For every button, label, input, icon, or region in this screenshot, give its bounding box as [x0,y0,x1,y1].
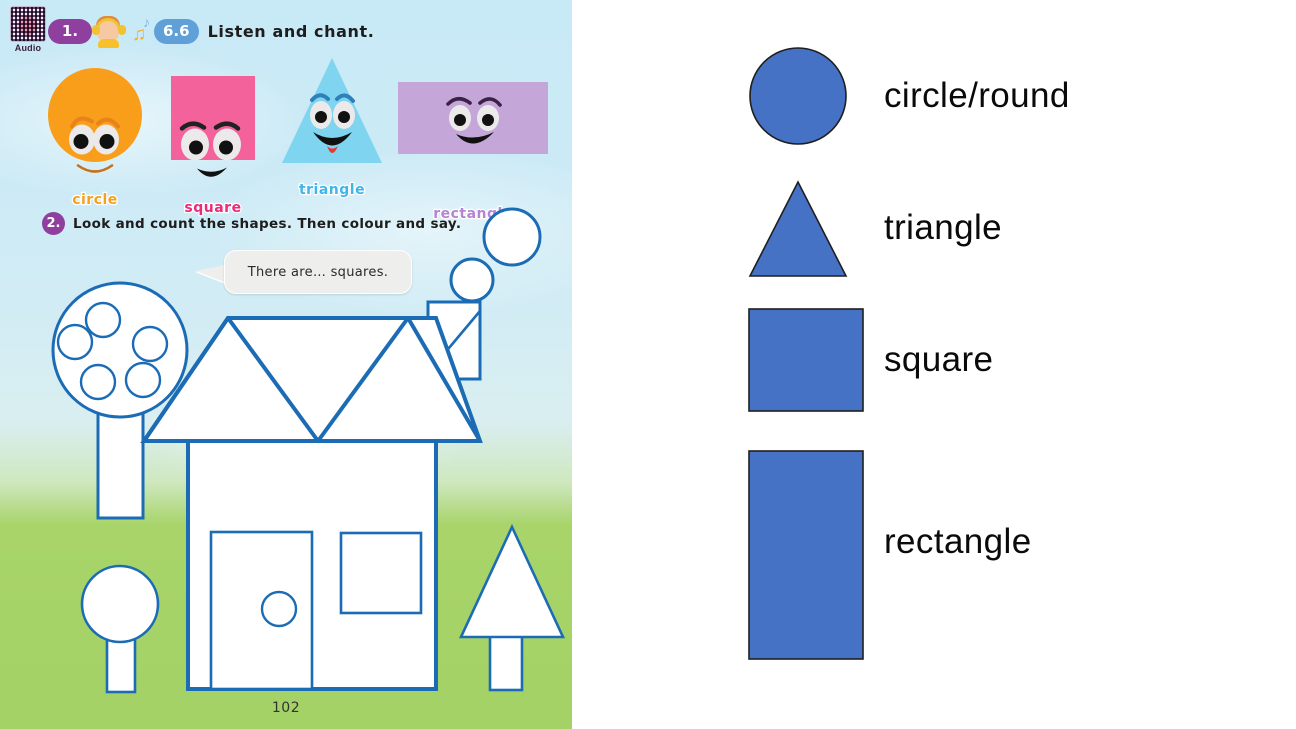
shape-character-circle: circle [48,68,142,213]
tree-trunk-small [107,629,135,692]
audio-label: Audio [8,42,48,54]
chimney [428,302,480,379]
door [211,532,312,689]
triangle-swatch-icon[interactable] [748,180,848,280]
smoke-circle-small [451,259,493,301]
roof-outline [144,318,480,441]
tree-circle-5 [126,363,160,397]
music-note-icon: ♫ ♪ [130,14,160,48]
qr-code-icon[interactable] [10,6,46,42]
tree-trunk-big [98,400,143,518]
exercise-1-instruction: Listen and chant. [208,22,375,41]
window [341,533,421,613]
shape-legend-panel: circle/round triangle square rectangle [572,0,1296,729]
legend-label-triangle: triangle [884,208,1002,248]
door-handle [262,592,296,626]
exercise-2-instruction: Look and count the shapes. Then colour a… [73,216,461,232]
exercise-2-header: 2. Look and count the shapes. Then colou… [42,212,461,235]
shape-characters-row: circle square [40,58,560,203]
exercise-2-number: 2. [42,212,65,235]
pine-trunk [490,635,522,690]
square-swatch-icon[interactable] [748,308,864,412]
shape-label-circle: circle [48,192,142,208]
audio-badge[interactable]: Audio [8,6,48,54]
rectangle-swatch-icon[interactable] [748,450,864,660]
roof-zigzag [144,318,480,441]
speech-bubble-text: There are… squares. [248,265,388,280]
page-number: 102 [0,700,572,716]
pine-crown [461,527,563,637]
chimney-diagonal [428,311,480,373]
boy-with-headphones-icon [86,14,132,48]
audio-track-number[interactable]: 6.6 [154,19,199,44]
house-body [188,441,436,689]
tree-circle-3 [133,327,167,361]
speech-bubble: There are… squares. [224,250,412,294]
circle-swatch-icon[interactable] [748,46,848,146]
tree-circle-2 [58,325,92,359]
tree-circle-1 [86,303,120,337]
shape-label-triangle: triangle [282,182,382,198]
shape-character-triangle: triangle [282,58,382,213]
legend-label-square: square [884,340,993,380]
legend-label-circle: circle/round [884,76,1070,116]
tree-crown-small [82,566,158,642]
legend-label-rectangle: rectangle [884,522,1032,562]
tree-circle-4 [81,365,115,399]
shape-character-square: square [166,76,260,221]
shape-character-rectangle: rectangle [398,82,548,227]
exercise-1-header: 1. ♫ ♪ 6.6 Listen and chant. [48,16,374,46]
textbook-page: Audio 1. ♫ ♪ 6.6 Listen and chant. [0,0,572,729]
tree-crown-big [53,283,187,417]
